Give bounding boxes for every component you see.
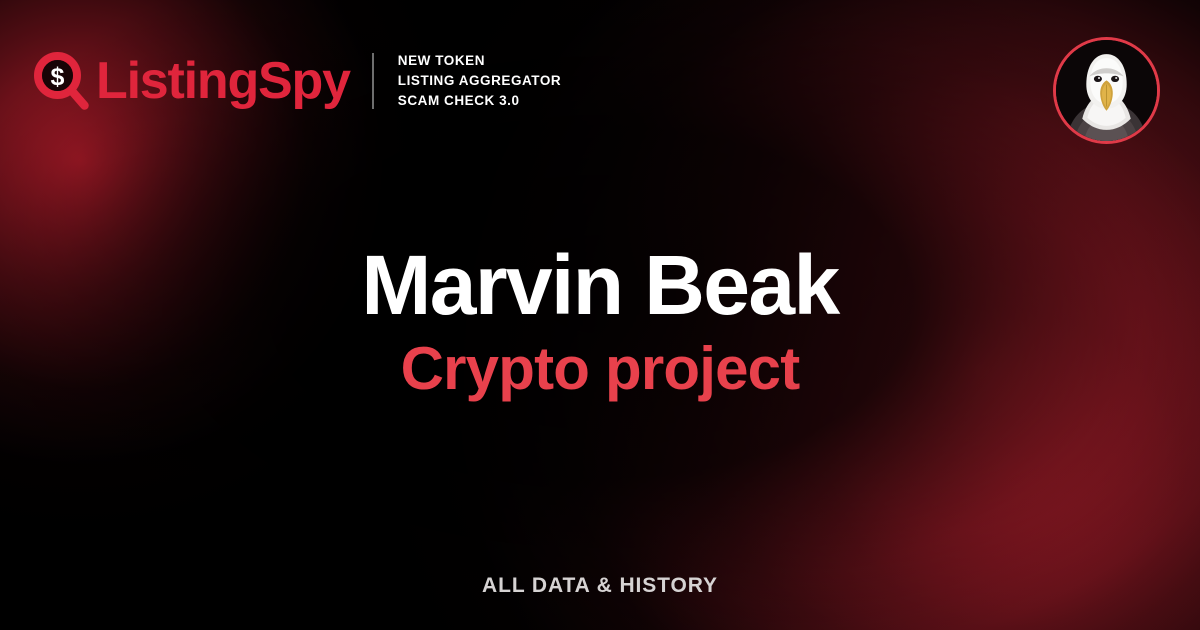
header-divider (372, 53, 374, 109)
footer: ALL DATA & HISTORY (0, 574, 1200, 598)
hero-content: Marvin Beak Crypto project (0, 243, 1200, 400)
svg-text:$: $ (51, 63, 65, 91)
footer-text: ALL DATA & HISTORY (482, 574, 718, 598)
tagline-line-1: NEW TOKEN (398, 52, 561, 70)
bald-eagle-avatar-icon (1056, 40, 1157, 141)
avatar[interactable] (1053, 37, 1160, 144)
tagline-line-2: LISTING AGGREGATOR (398, 72, 561, 90)
brand-name: ListingSpy (96, 55, 350, 107)
tagline-line-3: SCAM CHECK 3.0 (398, 92, 561, 110)
page-title: Marvin Beak (0, 243, 1200, 329)
page-subtitle: Crypto project (0, 337, 1200, 400)
header: $ ListingSpy NEW TOKEN LISTING AGGREGATO… (34, 52, 561, 110)
magnifier-dollar-icon: $ (34, 52, 90, 110)
brand-logo[interactable]: $ ListingSpy (34, 52, 350, 110)
og-card: $ ListingSpy NEW TOKEN LISTING AGGREGATO… (0, 0, 1200, 630)
brand-tagline: NEW TOKEN LISTING AGGREGATOR SCAM CHECK … (398, 52, 561, 110)
